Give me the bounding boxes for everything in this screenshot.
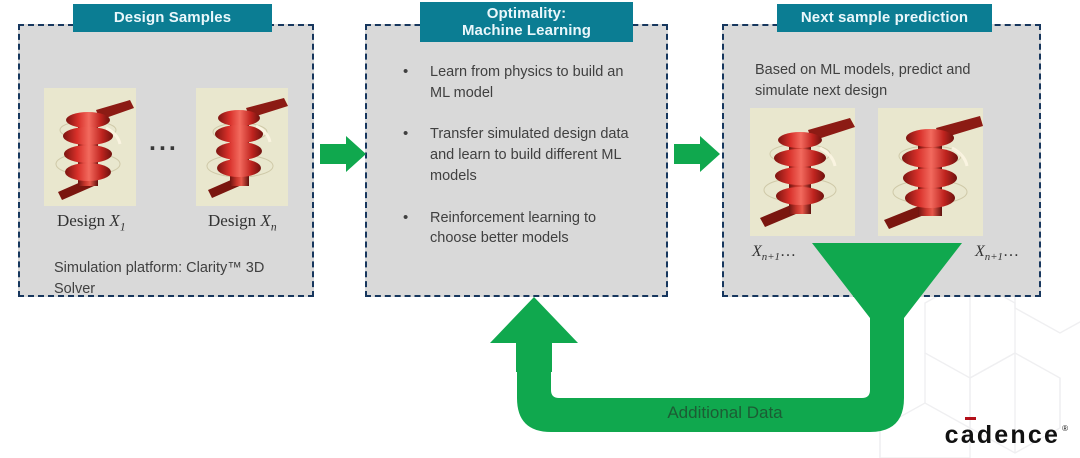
next-sample-thumbnail-2	[878, 108, 983, 236]
optimality-bullet-list: • Learn from physics to build an ML mode…	[393, 62, 645, 249]
design-label-n: Design Xn	[208, 211, 277, 233]
diagram-canvas: ... Design X1 Design Xn Simulation platf…	[0, 0, 1080, 458]
cadence-wordmark: cadence	[945, 423, 1060, 448]
header-next-sample-prediction: Next sample prediction	[777, 4, 992, 32]
header-optimality-line1: Optimality:	[487, 5, 566, 22]
list-item-text: Learn from physics to build an ML model	[430, 64, 623, 101]
design-thumbnail-n	[196, 88, 288, 206]
design-ellipsis: ...	[149, 130, 179, 155]
bullet-dot-icon: •	[403, 123, 408, 144]
next-sample-label-2: Xn+1…	[975, 243, 1019, 263]
next-sample-thumbnail-1	[750, 108, 855, 236]
simulation-platform-note: Simulation platform: Clarity™ 3D Solver	[54, 258, 302, 299]
arrow-design-to-optimality	[320, 136, 366, 172]
cadence-wordmark-text: cadence	[945, 421, 1060, 449]
list-item: • Learn from physics to build an ML mode…	[393, 62, 645, 103]
list-item-text: Transfer simulated design data and learn…	[430, 126, 629, 183]
list-item: • Transfer simulated design data and lea…	[393, 124, 645, 186]
bullet-dot-icon: •	[403, 207, 408, 228]
next-sample-description: Based on ML models, predict and simulate…	[755, 60, 1017, 101]
design-label-1: Design X1	[57, 211, 126, 233]
header-design-samples: Design Samples	[73, 4, 272, 32]
arrow-optimality-to-next	[674, 136, 720, 172]
list-item-text: Reinforcement learning to choose better …	[430, 210, 596, 247]
registered-mark: ®	[1062, 424, 1068, 433]
bullet-dot-icon: •	[403, 61, 408, 82]
macron-accent-icon	[965, 417, 976, 420]
next-sample-label-1: Xn+1…	[752, 243, 796, 263]
cadence-logo: cadence ®	[945, 423, 1068, 448]
list-item: • Reinforcement learning to choose bette…	[393, 208, 645, 249]
additional-data-label: Additional Data	[585, 403, 865, 423]
header-optimality: Optimality: Machine Learning	[420, 2, 633, 42]
header-optimality-line2: Machine Learning	[462, 22, 591, 39]
design-thumbnail-1	[44, 88, 136, 206]
